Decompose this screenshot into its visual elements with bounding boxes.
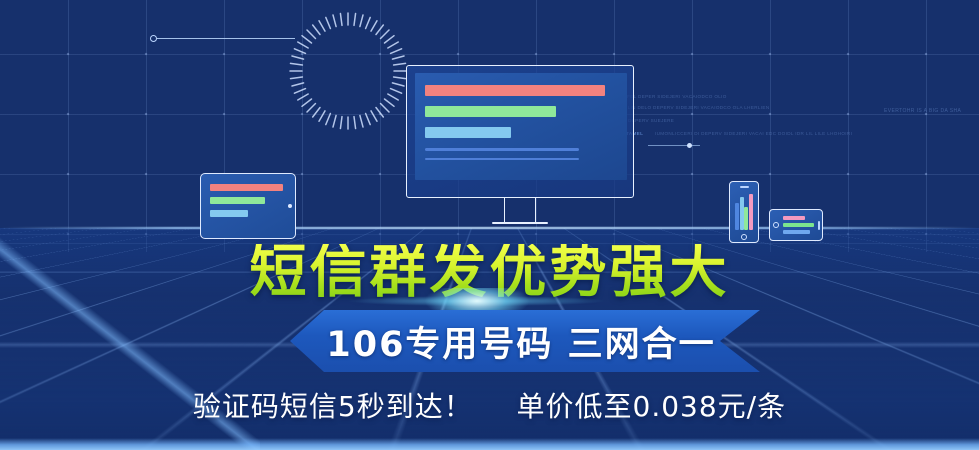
phone-speaker-icon xyxy=(740,186,749,188)
subtitle: 验证码短信5秒到达！ 单价低至0.038元/条 xyxy=(0,385,979,425)
phone-landscape-frame xyxy=(769,209,823,241)
headline: 短信群发优势强大 xyxy=(0,244,979,301)
hex-banner: 106专用号码 三网合一 xyxy=(290,310,760,372)
monitor-frame xyxy=(406,65,634,198)
phone-vbar-pink xyxy=(749,194,753,230)
phone-landscape-speaker-icon xyxy=(818,221,820,230)
tablet-illustration xyxy=(200,173,296,239)
subtitle-left-text: 验证码短信5秒到达！ xyxy=(193,390,473,423)
tablet-frame xyxy=(200,173,296,239)
screen-bar-green xyxy=(425,106,556,117)
tablet-bar-green xyxy=(210,197,265,204)
decor-text-line-4: IUMONLICCERI DI DEPERV SIDEJERI VACAI ED… xyxy=(655,131,852,136)
screen-bar-thin-2 xyxy=(425,158,579,161)
tablet-home-button-icon xyxy=(288,204,292,208)
phone-portrait-frame xyxy=(729,181,759,243)
phone-landscape-chart xyxy=(783,216,814,234)
screen-bar-thin-1 xyxy=(425,148,579,151)
tablet-bar-blue xyxy=(210,210,248,217)
connector-dot-icon xyxy=(150,35,157,42)
radial-dial-icon xyxy=(283,6,413,136)
phone-landscape-home-button-icon xyxy=(773,222,779,228)
connector-stroke xyxy=(157,38,295,39)
bottom-glow-strip xyxy=(0,438,979,450)
decor-text-right: EVERTOHR IS A BIG DA SHA xyxy=(884,108,961,114)
phone-hbar-blue xyxy=(783,230,810,234)
monitor-screen xyxy=(415,73,627,180)
phone-portrait-chart xyxy=(735,192,753,230)
phone-portrait-illustration xyxy=(729,181,759,243)
promo-banner: DIINLIFEL DEPER SIDEJERI VACAIODCO OLIO … xyxy=(0,0,979,450)
connector-line xyxy=(150,33,300,45)
phone-hbar-pink xyxy=(783,216,805,220)
screen-bar-blue xyxy=(425,127,511,138)
phone-vbar-lightblue xyxy=(740,197,744,230)
subtitle-right-text: 单价低至0.038元/条 xyxy=(517,390,787,423)
monitor-stand-neck xyxy=(504,198,536,224)
phone-hbar-green xyxy=(783,223,814,227)
screen-bar-red xyxy=(425,85,605,96)
phone-vbar-green xyxy=(744,207,748,230)
decor-text-line-2: I SHIRLIN DELO DEPERV SIDEJERI VACAIODCO… xyxy=(612,105,770,110)
decor-nub-icon xyxy=(687,143,692,148)
hex-banner-text: 106专用号码 三网合一 xyxy=(326,316,715,367)
tablet-bar-red xyxy=(210,184,283,191)
monitor-stand-base xyxy=(492,222,548,224)
phone-home-button-icon xyxy=(741,234,747,240)
phone-landscape-illustration xyxy=(769,209,823,241)
decor-horizontal-rule xyxy=(648,145,700,146)
desktop-monitor-illustration xyxy=(406,65,634,228)
phone-vbar-blue xyxy=(735,203,739,230)
tablet-screen xyxy=(210,181,286,231)
